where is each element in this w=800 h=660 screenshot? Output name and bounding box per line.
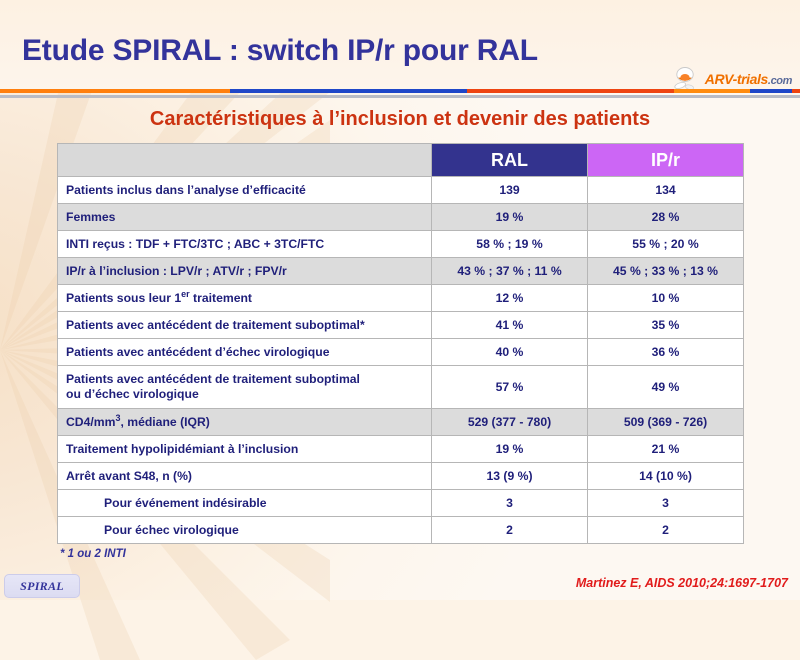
- row-value-ral: 2: [432, 517, 588, 544]
- row-value-ipr: 28 %: [588, 204, 744, 231]
- table-row: Pour événement indésirable33: [58, 490, 744, 517]
- row-label: INTI reçus : TDF + FTC/3TC ; ABC + 3TC/F…: [58, 231, 432, 258]
- row-value-ipr: 35 %: [588, 312, 744, 339]
- rule-segment-blue-middle: [230, 89, 467, 93]
- table-row: Patients inclus dans l’analyse d’efficac…: [58, 177, 744, 204]
- row-value-ral: 529 (377 - 780): [432, 409, 588, 436]
- column-header-ipr: IP/r: [588, 144, 744, 177]
- row-value-ipr: 21 %: [588, 436, 744, 463]
- row-label: Femmes: [58, 204, 432, 231]
- column-header-label: [58, 144, 432, 177]
- characteristics-table-wrapper: RAL IP/r Patients inclus dans l’analyse …: [57, 143, 743, 544]
- table-row: Arrêt avant S48, n (%)13 (9 %)14 (10 %): [58, 463, 744, 490]
- row-label: Patients sous leur 1er traitement: [58, 285, 432, 312]
- source-citation: Martinez E, AIDS 2010;24:1697-1707: [576, 576, 788, 590]
- table-footnote: * 1 ou 2 INTI: [60, 548, 126, 560]
- row-label: CD4/mm3, médiane (IQR): [58, 409, 432, 436]
- row-value-ipr: 55 % ; 20 %: [588, 231, 744, 258]
- row-label: Patients avec antécédent d’échec virolog…: [58, 339, 432, 366]
- row-value-ral: 41 %: [432, 312, 588, 339]
- page-title: Etude SPIRAL : switch IP/r pour RAL: [22, 34, 538, 68]
- row-label-line-1: Patients avec antécédent de traitement s…: [66, 372, 425, 387]
- row-value-ral: 13 (9 %): [432, 463, 588, 490]
- logo-underline-blue: [750, 89, 792, 93]
- table-row: INTI reçus : TDF + FTC/3TC ; ABC + 3TC/F…: [58, 231, 744, 258]
- row-label: Pour événement indésirable: [58, 490, 432, 517]
- logo-underline-rule: [674, 89, 792, 93]
- row-value-ipr: 49 %: [588, 366, 744, 409]
- table-header-row: RAL IP/r: [58, 144, 744, 177]
- logo-underline-orange: [674, 89, 750, 93]
- logo-suffix-text: .com: [768, 75, 792, 87]
- table-row: Patients avec antécédent d’échec virolog…: [58, 339, 744, 366]
- rule-segment-orange-left: [0, 89, 230, 93]
- page-subtitle: Caractéristiques à l’inclusion et deveni…: [0, 108, 800, 131]
- table-row: Traitement hypolipidémiant à l’inclusion…: [58, 436, 744, 463]
- row-value-ral: 3: [432, 490, 588, 517]
- table-row: Patients avec antécédent de traitement s…: [58, 312, 744, 339]
- row-value-ipr: 14 (10 %): [588, 463, 744, 490]
- row-value-ipr: 10 %: [588, 285, 744, 312]
- row-value-ipr: 509 (369 - 726): [588, 409, 744, 436]
- table-row: Patients sous leur 1er traitement12 %10 …: [58, 285, 744, 312]
- row-value-ral: 19 %: [432, 204, 588, 231]
- row-value-ipr: 36 %: [588, 339, 744, 366]
- logo-wordmark: ARV-trials.com: [705, 72, 792, 87]
- row-value-ral: 43 % ; 37 % ; 11 %: [432, 258, 588, 285]
- row-label: IP/r à l’inclusion : LPV/r ; ATV/r ; FPV…: [58, 258, 432, 285]
- row-value-ral: 57 %: [432, 366, 588, 409]
- spiral-study-badge: SPIRAL: [4, 574, 80, 598]
- row-value-ral: 12 %: [432, 285, 588, 312]
- row-value-ral: 19 %: [432, 436, 588, 463]
- row-value-ral: 40 %: [432, 339, 588, 366]
- table-header: RAL IP/r: [58, 144, 744, 177]
- row-label: Traitement hypolipidémiant à l’inclusion: [58, 436, 432, 463]
- table-row: IP/r à l’inclusion : LPV/r ; ATV/r ; FPV…: [58, 258, 744, 285]
- table-row: Femmes19 %28 %: [58, 204, 744, 231]
- table-row: Pour échec virologique22: [58, 517, 744, 544]
- row-value-ipr: 45 % ; 33 % ; 13 %: [588, 258, 744, 285]
- row-label: Patients avec antécédent de traitement s…: [58, 366, 432, 409]
- row-value-ral: 139: [432, 177, 588, 204]
- row-label: Patients avec antécédent de traitement s…: [58, 312, 432, 339]
- row-label: Pour échec virologique: [58, 517, 432, 544]
- column-header-ral: RAL: [432, 144, 588, 177]
- row-value-ipr: 2: [588, 517, 744, 544]
- characteristics-table: RAL IP/r Patients inclus dans l’analyse …: [57, 143, 744, 544]
- table-row: Patients avec antécédent de traitement s…: [58, 366, 744, 409]
- row-label: Patients inclus dans l’analyse d’efficac…: [58, 177, 432, 204]
- row-label-line-2: ou d’échec virologique: [66, 387, 425, 402]
- logo-brand-text: ARV-trials: [705, 71, 768, 87]
- header-gray-rule: [0, 95, 800, 98]
- row-value-ipr: 134: [588, 177, 744, 204]
- table-body: Patients inclus dans l’analyse d’efficac…: [58, 177, 744, 544]
- row-label: Arrêt avant S48, n (%): [58, 463, 432, 490]
- row-value-ipr: 3: [588, 490, 744, 517]
- table-row: CD4/mm3, médiane (IQR)529 (377 - 780)509…: [58, 409, 744, 436]
- row-value-ral: 58 % ; 19 %: [432, 231, 588, 258]
